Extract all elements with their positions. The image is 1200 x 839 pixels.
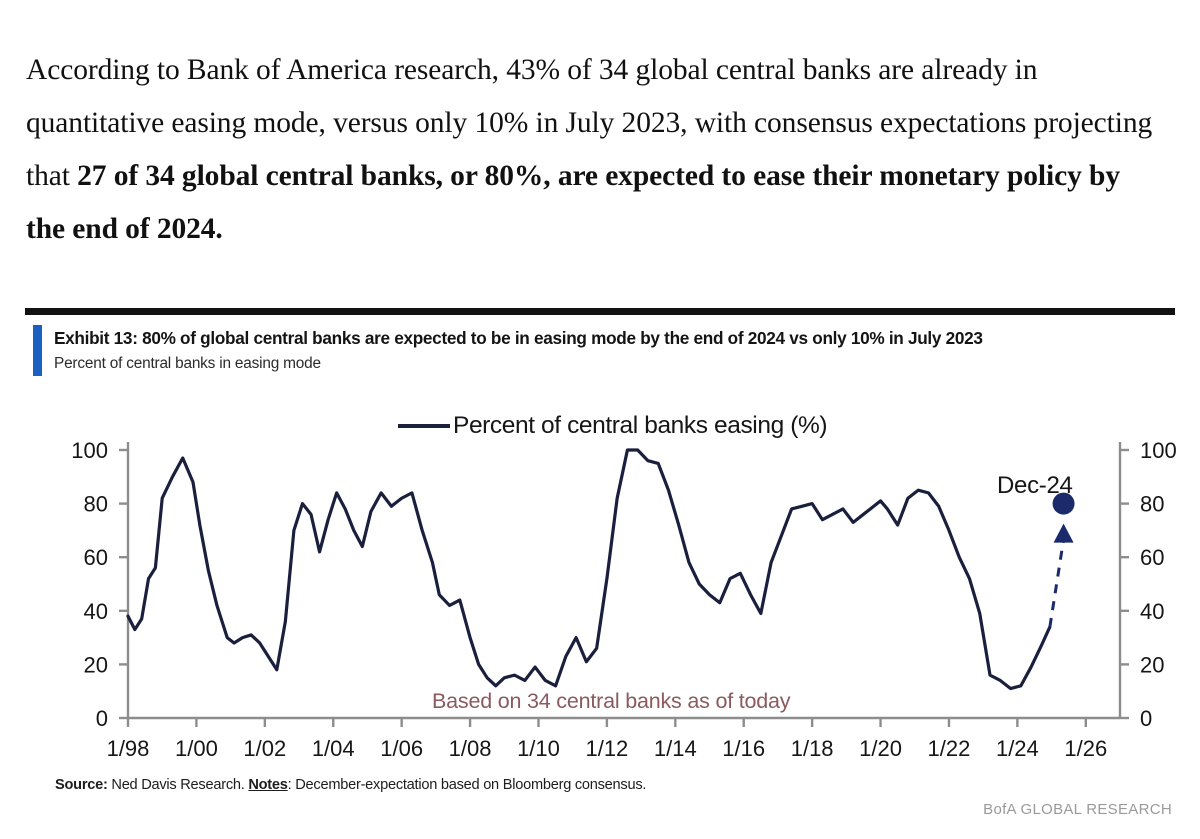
svg-text:1/26: 1/26 — [1064, 736, 1107, 761]
notes-label: Notes — [248, 777, 287, 793]
svg-text:1/08: 1/08 — [449, 736, 492, 761]
svg-text:1/16: 1/16 — [722, 736, 765, 761]
source-text: Ned Davis Research. — [108, 777, 249, 793]
svg-text:1/06: 1/06 — [380, 736, 423, 761]
exhibit-title: Exhibit 13: 80% of global central banks … — [54, 328, 1164, 349]
based-on-34-banks-note: Based on 34 central banks as of today — [432, 689, 790, 714]
narrative-paragraph: According to Bank of America research, 4… — [26, 44, 1166, 256]
svg-text:1/02: 1/02 — [243, 736, 286, 761]
svg-text:80: 80 — [1140, 492, 1164, 517]
svg-text:1/12: 1/12 — [585, 736, 628, 761]
dec-24-annotation-label: Dec-24 — [997, 472, 1073, 500]
svg-text:0: 0 — [96, 706, 108, 731]
bofa-global-research-brand: BofA GLOBAL RESEARCH — [983, 801, 1172, 818]
svg-text:20: 20 — [1140, 652, 1164, 677]
source-note: Source: Ned Davis Research. Notes: Decem… — [55, 777, 646, 793]
svg-text:100: 100 — [71, 438, 108, 463]
svg-text:1/04: 1/04 — [312, 736, 355, 761]
notes-text: : December-expectation based on Bloomber… — [288, 777, 647, 793]
svg-text:100: 100 — [1140, 438, 1177, 463]
svg-text:1/00: 1/00 — [175, 736, 218, 761]
svg-text:60: 60 — [84, 545, 108, 570]
exhibit-top-rule — [25, 308, 1175, 315]
narrative-bold-text: 27 of 34 global central banks, or 80%, a… — [26, 160, 1120, 245]
source-label: Source: — [55, 777, 108, 793]
svg-text:40: 40 — [1140, 599, 1164, 624]
svg-text:40: 40 — [84, 599, 108, 624]
svg-text:1/24: 1/24 — [996, 736, 1039, 761]
svg-text:1/20: 1/20 — [859, 736, 902, 761]
svg-text:1/10: 1/10 — [517, 736, 560, 761]
svg-text:1/98: 1/98 — [107, 736, 150, 761]
svg-text:0: 0 — [1140, 706, 1152, 731]
svg-text:1/14: 1/14 — [654, 736, 697, 761]
exhibit-subtitle: Percent of central banks in easing mode — [54, 355, 1164, 373]
svg-text:1/18: 1/18 — [791, 736, 834, 761]
screenshot-page: According to Bank of America research, 4… — [0, 0, 1200, 839]
svg-text:20: 20 — [84, 652, 108, 677]
svg-text:1/22: 1/22 — [928, 736, 971, 761]
exhibit-accent-bar — [33, 325, 42, 376]
svg-text:60: 60 — [1140, 545, 1164, 570]
svg-text:80: 80 — [84, 492, 108, 517]
